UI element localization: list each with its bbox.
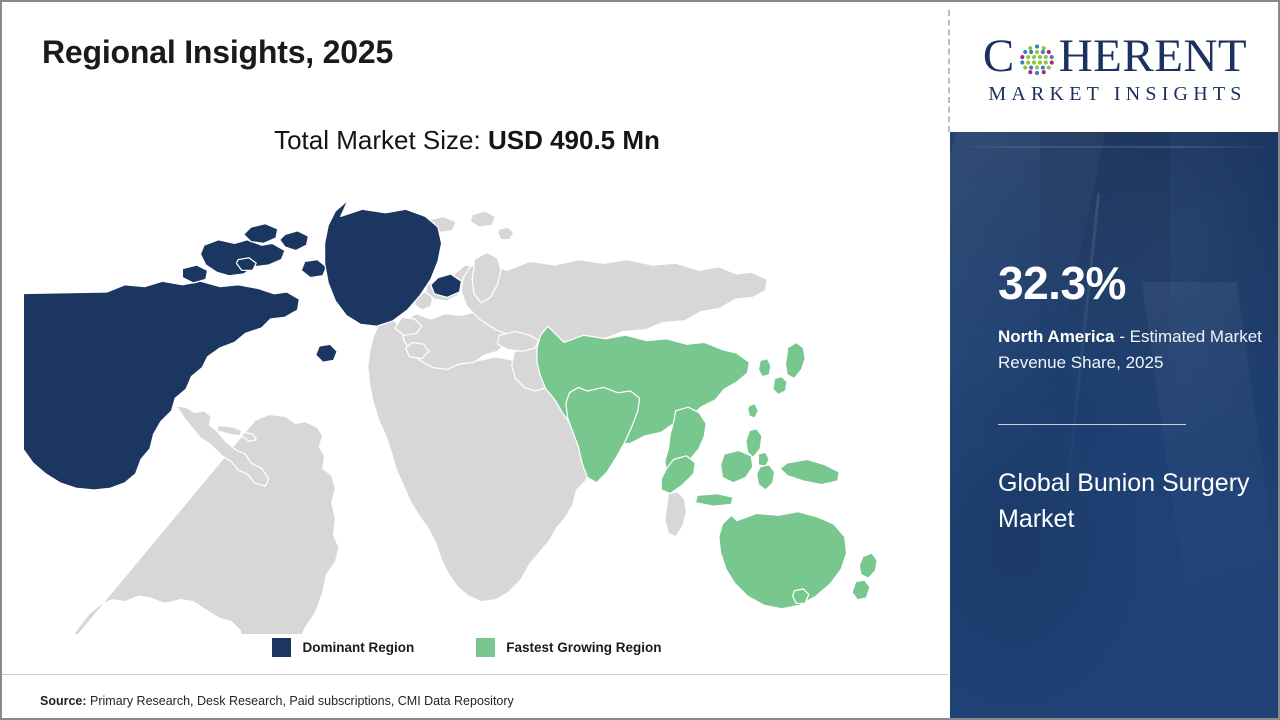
world-map: [24, 184, 924, 634]
total-market-size-label: Total Market Size:: [274, 125, 481, 155]
brand-logo: C: [950, 2, 1280, 132]
source-label: Source:: [40, 694, 87, 708]
source-divider: [2, 674, 948, 675]
dominant-region-swatch: [272, 638, 291, 657]
total-market-size-value: USD 490.5 Mn: [488, 125, 660, 155]
legend-item-dominant: Dominant Region: [272, 638, 414, 657]
logo-word-herent: HERENT: [1059, 33, 1247, 80]
legend-label-fastest-growing: Fastest Growing Region: [506, 640, 661, 655]
share-region-name: North America: [998, 327, 1115, 346]
right-panel: C: [950, 2, 1280, 718]
globe-dots-icon: [1016, 39, 1058, 81]
map-fastest-growing-region: [537, 326, 877, 609]
highlight-panel: 32.3% North America - Estimated Market R…: [950, 132, 1280, 718]
caption-divider: [998, 424, 1186, 425]
infographic-root: Regional Insights, 2025 Total Market Siz…: [0, 0, 1280, 720]
left-panel: Regional Insights, 2025 Total Market Siz…: [2, 2, 950, 718]
source-note: Source: Primary Research, Desk Research,…: [40, 694, 514, 708]
share-caption: North America - Estimated Market Revenue…: [998, 324, 1263, 377]
map-legend: Dominant Region Fastest Growing Region: [2, 638, 932, 657]
total-market-size: Total Market Size: USD 490.5 Mn: [2, 125, 932, 156]
logo-tagline: MARKET INSIGHTS: [983, 83, 1246, 106]
share-percentage: 32.3%: [998, 260, 1126, 306]
logo-letter-c: C: [983, 33, 1015, 80]
page-title: Regional Insights, 2025: [42, 34, 393, 71]
world-map-svg: [24, 184, 924, 634]
legend-item-fastest-growing: Fastest Growing Region: [476, 638, 661, 657]
source-text: Primary Research, Desk Research, Paid su…: [87, 694, 514, 708]
logo-wordmark: C: [983, 29, 1247, 85]
panel-backdrop-streak-c: [950, 146, 1280, 148]
market-title: Global Bunion Surgery Market: [998, 466, 1260, 537]
legend-label-dominant: Dominant Region: [302, 640, 414, 655]
fastest-growing-region-swatch: [476, 638, 495, 657]
